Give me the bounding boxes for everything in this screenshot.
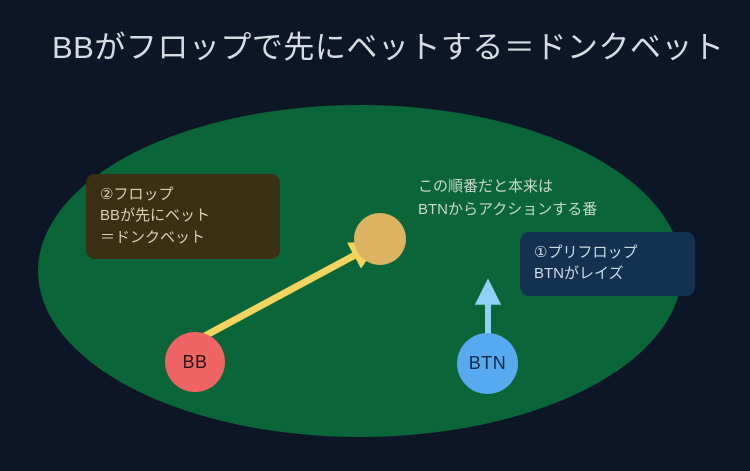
seat-btn-label: BTN: [469, 353, 507, 374]
callout-flop-donk-bet: ②フロップ BBが先にベット ＝ドンクベット: [86, 174, 280, 259]
callout-preflop-btn-raise: ①プリフロップ BTNがレイズ: [520, 232, 695, 296]
seat-bb[interactable]: BB: [165, 332, 225, 392]
diagram-canvas: BBがフロップで先にベットする＝ドンクベット BB BTN ②フロップ BBが先…: [0, 0, 750, 471]
seat-btn[interactable]: BTN: [457, 333, 518, 394]
pot-chip: [354, 213, 406, 265]
page-title: BBがフロップで先にベットする＝ドンクベット: [52, 29, 724, 66]
note-action-order: この順番だと本来は BTNからアクションする番: [418, 176, 597, 221]
seat-bb-label: BB: [182, 352, 207, 373]
